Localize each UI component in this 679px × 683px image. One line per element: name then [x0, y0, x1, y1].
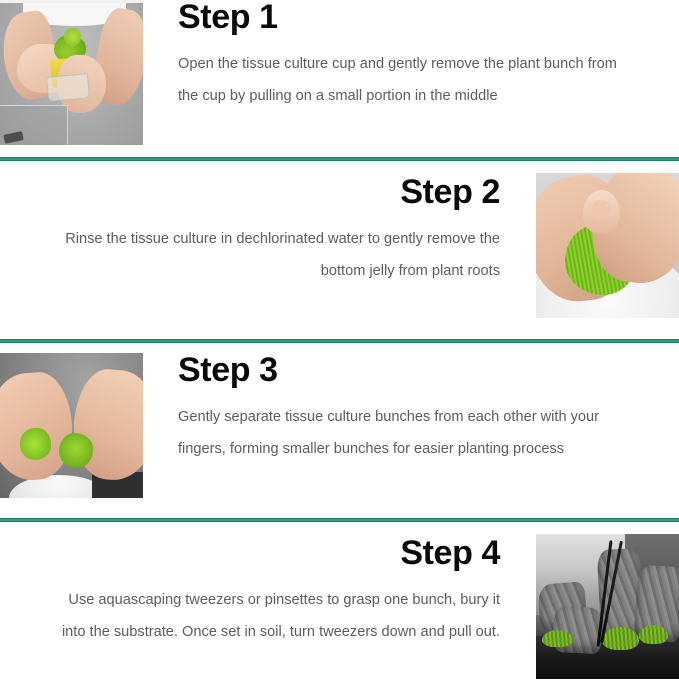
step-1-text-column: Step 1 Open the tissue culture cup and g… — [143, 0, 679, 112]
photo-aquarium-tank — [0, 105, 68, 145]
step-2-title: Step 2 — [55, 173, 500, 209]
step-1-body: Open the tissue culture cup and gently r… — [178, 34, 619, 112]
photo-planted-sprout — [542, 630, 573, 647]
photo-planted-sprout — [602, 627, 639, 650]
step-4-body: Use aquascaping tweezers or pinsettes to… — [55, 570, 500, 648]
step-3-title: Step 3 — [178, 353, 619, 387]
photo-thumb — [583, 190, 620, 234]
step-1-title: Step 1 — [178, 0, 619, 34]
photo-plant-bunch-left — [20, 428, 51, 460]
step-block-1: Step 1 Open the tissue culture cup and g… — [0, 0, 679, 157]
step-2-body: Rinse the tissue culture in dechlorinate… — [55, 209, 500, 287]
photo-planted-sprout — [639, 625, 668, 644]
step-3-photo — [0, 353, 143, 498]
step-2-text-column: Step 2 Rinse the tissue culture in dechl… — [0, 173, 536, 287]
instruction-sheet: Step 1 Open the tissue culture cup and g… — [0, 0, 679, 683]
photo-cup-glass — [46, 74, 90, 103]
step-block-2: Step 2 Rinse the tissue culture in dechl… — [0, 161, 679, 339]
step-block-4: Step 4 Use aquascaping tweezers or pinse… — [0, 522, 679, 682]
step-4-text-column: Step 4 Use aquascaping tweezers or pinse… — [0, 534, 536, 648]
step-4-title: Step 4 — [55, 534, 500, 570]
step-block-3: Step 3 Gently separate tissue culture bu… — [0, 343, 679, 518]
step-2-photo — [536, 173, 679, 318]
step-3-text-column: Step 3 Gently separate tissue culture bu… — [143, 353, 679, 465]
step-1-photo — [0, 0, 143, 145]
step-3-body: Gently separate tissue culture bunches f… — [178, 387, 619, 465]
photo-plant-bunch-right — [59, 433, 93, 468]
step-4-photo — [536, 534, 679, 679]
